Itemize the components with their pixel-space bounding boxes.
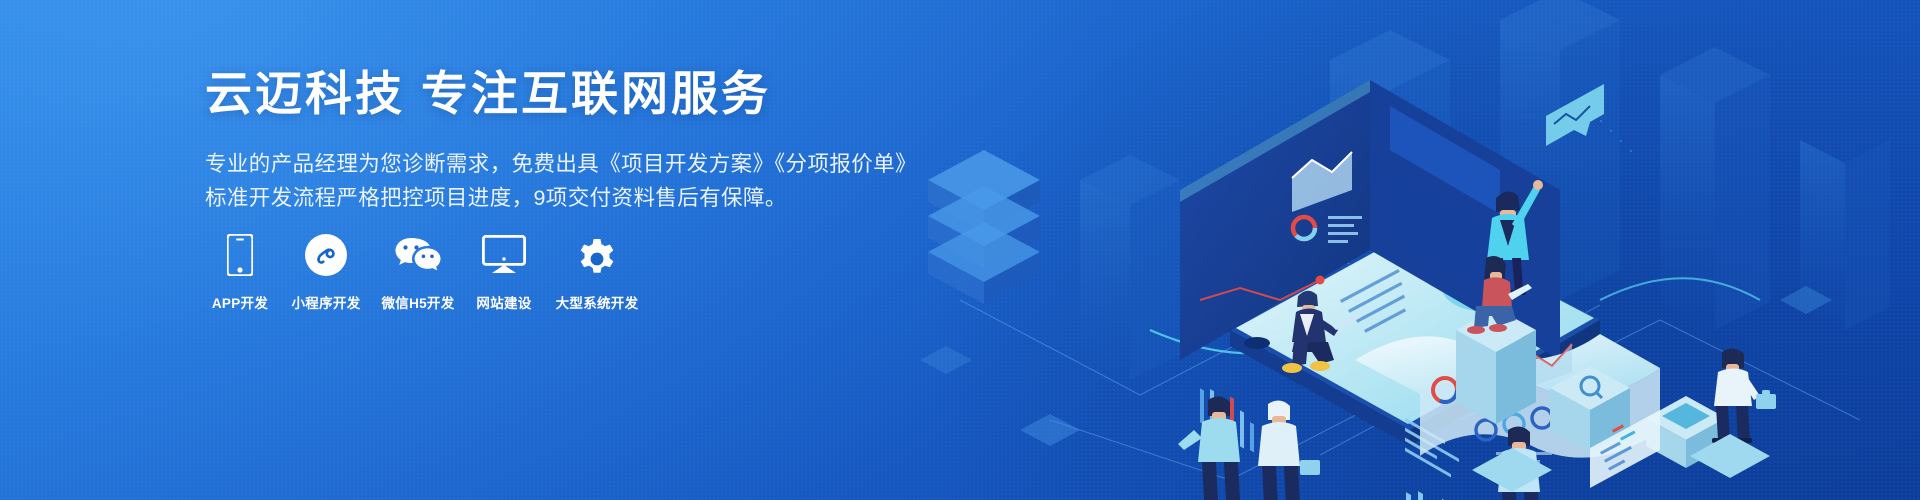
service-label: 微信H5开发 xyxy=(375,292,461,312)
subtitle-line-1: 专业的产品经理为您诊断需求，免费出具《项目开发方案》《分项报价单》 xyxy=(205,147,925,182)
wechat-miniprogram-icon xyxy=(283,232,369,278)
service-label: 大型系统开发 xyxy=(547,292,647,312)
mobile-phone-icon xyxy=(203,232,277,278)
hero-banner: 云迈科技 专注互联网服务 专业的产品经理为您诊断需求，免费出具《项目开发方案》《… xyxy=(0,0,1920,500)
service-item-app[interactable]: APP开发 xyxy=(203,232,277,312)
background-glow-bottom-right xyxy=(920,0,1920,500)
service-label: 小程序开发 xyxy=(283,292,369,312)
page-title: 云迈科技 专注互联网服务 xyxy=(205,68,925,121)
hero-copy: 云迈科技 专注互联网服务 专业的产品经理为您诊断需求，免费出具《项目开发方案》《… xyxy=(205,68,925,216)
wechat-icon xyxy=(375,232,461,278)
service-label: APP开发 xyxy=(203,292,277,312)
service-list: APP开发 小程序开发 xyxy=(203,232,647,312)
service-item-website[interactable]: 网站建设 xyxy=(467,232,541,312)
service-label: 网站建设 xyxy=(467,292,541,312)
service-item-miniprogram[interactable]: 小程序开发 xyxy=(283,232,369,312)
isometric-tech-dashboard-illustration xyxy=(900,0,1920,500)
subtitle-line-2: 标准开发流程严格把控项目进度，9项交付资料售后有保障。 xyxy=(205,181,925,216)
gear-icon xyxy=(547,232,647,278)
monitor-icon xyxy=(467,232,541,278)
service-item-wechat-h5[interactable]: 微信H5开发 xyxy=(375,232,461,312)
service-item-large-system[interactable]: 大型系统开发 xyxy=(547,232,647,312)
